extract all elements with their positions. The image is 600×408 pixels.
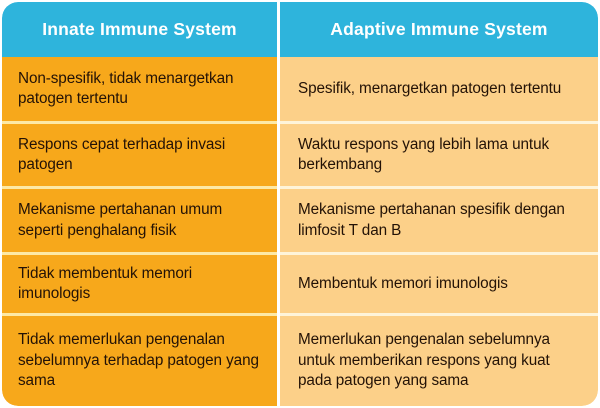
column-header-adaptive: Adaptive Immune System — [280, 2, 598, 57]
table-cell: Memerlukan pengenalan sebelumnya untuk m… — [280, 313, 598, 406]
table-cell: Membentuk memori imunologis — [280, 252, 598, 313]
cell-text: Tidak membentuk memori imunologis — [18, 264, 263, 305]
table-cell: Spesifik, menargetkan patogen tertentu — [280, 57, 598, 121]
cell-text: Waktu respons yang lebih lama untuk berk… — [298, 135, 586, 176]
table-header-row: Innate Immune System Adaptive Immune Sys… — [2, 2, 598, 57]
column-header-innate: Innate Immune System — [2, 2, 277, 57]
immune-system-comparison-table: Innate Immune System Adaptive Immune Sys… — [2, 2, 598, 406]
table-cell: Tidak memerlukan pengenalan sebelumnya t… — [2, 313, 277, 406]
cell-text: Mekanisme pertahanan umum seperti pengha… — [18, 200, 263, 241]
table-cell: Mekanisme pertahanan spesifik dengan lim… — [280, 186, 598, 252]
table-cell: Waktu respons yang lebih lama untuk berk… — [280, 121, 598, 186]
cell-text: Membentuk memori imunologis — [298, 274, 508, 294]
cell-text: Non-spesifik, tidak menargetkan patogen … — [18, 69, 263, 110]
cell-text: Spesifik, menargetkan patogen tertentu — [298, 79, 561, 99]
table-cell: Respons cepat terhadap invasi patogen — [2, 121, 277, 186]
table-cell: Non-spesifik, tidak menargetkan patogen … — [2, 57, 277, 121]
column-header-adaptive-label: Adaptive Immune System — [330, 19, 547, 39]
table-cell: Tidak membentuk memori imunologis — [2, 252, 277, 313]
table-body: Non-spesifik, tidak menargetkan patogen … — [2, 57, 598, 406]
column-innate: Non-spesifik, tidak menargetkan patogen … — [2, 57, 277, 406]
column-adaptive: Spesifik, menargetkan patogen tertentu W… — [280, 57, 598, 406]
cell-text: Memerlukan pengenalan sebelumnya untuk m… — [298, 330, 586, 391]
table-cell: Mekanisme pertahanan umum seperti pengha… — [2, 186, 277, 252]
cell-text: Mekanisme pertahanan spesifik dengan lim… — [298, 200, 586, 241]
cell-text: Tidak memerlukan pengenalan sebelumnya t… — [18, 330, 263, 391]
column-header-innate-label: Innate Immune System — [42, 19, 237, 39]
comparison-table-wrapper: Innate Immune System Adaptive Immune Sys… — [0, 0, 600, 408]
cell-text: Respons cepat terhadap invasi patogen — [18, 135, 263, 176]
